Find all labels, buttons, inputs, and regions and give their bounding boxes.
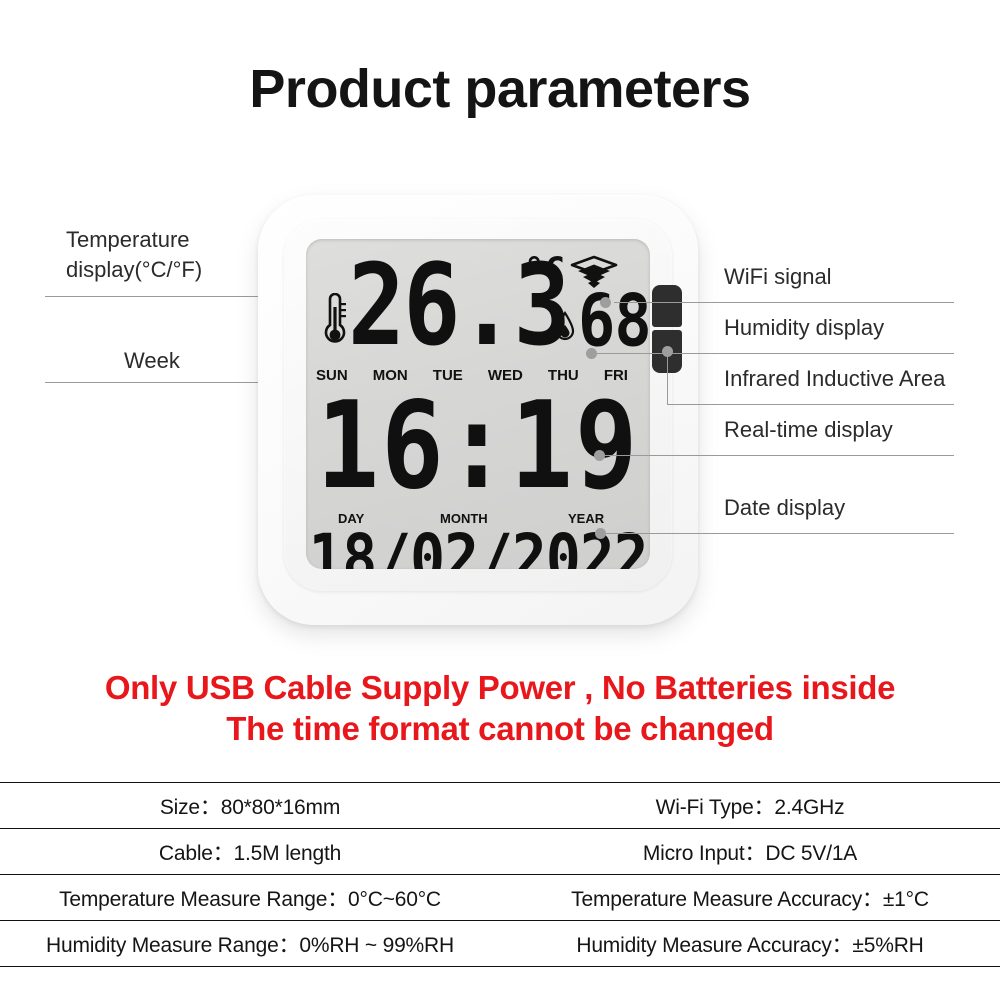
notice-line-1: Only USB Cable Supply Power , No Batteri…: [0, 668, 1000, 708]
leader-dot-humidity-display: [586, 348, 597, 359]
callout-temperature-display-line2: display(°C/°F): [66, 255, 202, 285]
callout-temperature-display: Temperature display(°C/°F): [66, 225, 202, 285]
leader-line-date-display: [605, 533, 954, 534]
callout-infrared-inductive-area: Infrared Inductive Area: [724, 366, 945, 392]
callout-temperature-display-line1: Temperature: [66, 225, 202, 255]
spec-humidity-range: Humidity Measure Range：0%RH ~ 99%RH: [0, 921, 500, 966]
infrared-module-upper: [652, 285, 682, 327]
device-body: 26.3 °C: [258, 195, 698, 625]
callout-humidity-display: Humidity display: [724, 315, 884, 341]
spec-temperature-range: Temperature Measure Range：0°C~60°C: [0, 875, 500, 920]
callout-real-time-display: Real-time display: [724, 417, 893, 443]
callout-week: Week: [124, 348, 180, 374]
lcd-time-value: 16:19: [316, 380, 639, 510]
leader-line-real-time-display: [604, 455, 954, 456]
table-row: Temperature Measure Range：0°C~60°C Tempe…: [0, 875, 1000, 921]
leader-line-infrared-inductive-area: [667, 404, 954, 405]
spec-temperature-accuracy: Temperature Measure Accuracy：±1°C: [500, 875, 1000, 920]
leader-dot-date-display: [595, 528, 606, 539]
lcd-top-row: 26.3 °C: [306, 247, 650, 363]
leader-dot-wifi-signal: [600, 297, 611, 308]
product-parameters-page: Product parameters Temperature display(°…: [0, 0, 1000, 1000]
lcd-temperature-unit: °C: [524, 253, 565, 287]
spec-humidity-accuracy: Humidity Measure Accuracy：±5%RH: [500, 921, 1000, 966]
callout-date-display: Date display: [724, 495, 845, 521]
leader-line-wifi-signal: [614, 302, 954, 303]
callout-wifi-signal: WiFi signal: [724, 264, 832, 290]
notice-line-2: The time format cannot be changed: [0, 708, 1000, 749]
power-notice: Only USB Cable Supply Power , No Batteri…: [0, 668, 1000, 749]
humidity-droplet-icon: [555, 311, 575, 341]
leader-dot-infrared-inductive-area: [662, 346, 673, 357]
thermometer-icon: [318, 293, 346, 349]
spec-size: Size：80*80*16mm: [0, 783, 500, 828]
table-row: Cable：1.5M length Micro Input：DC 5V/1A: [0, 829, 1000, 875]
spec-cable: Cable：1.5M length: [0, 829, 500, 874]
spec-wifi-type: Wi-Fi Type：2.4GHz: [500, 783, 1000, 828]
table-row: Humidity Measure Range：0%RH ~ 99%RH Humi…: [0, 921, 1000, 967]
page-title: Product parameters: [0, 58, 1000, 120]
leader-line-infrared-vertical: [667, 351, 668, 405]
lcd-time-row: 16:19: [306, 389, 650, 509]
spec-micro-input: Micro Input：DC 5V/1A: [500, 829, 1000, 874]
device-bezel: 26.3 °C: [284, 219, 672, 591]
leader-line-humidity-display: [597, 353, 954, 354]
product-diagram: Temperature display(°C/°F) Week: [0, 175, 1000, 665]
lcd-screen: 26.3 °C: [306, 239, 650, 569]
leader-dot-real-time-display: [594, 450, 605, 461]
specifications-table: Size：80*80*16mm Wi-Fi Type：2.4GHz Cable：…: [0, 782, 1000, 967]
table-row: Size：80*80*16mm Wi-Fi Type：2.4GHz: [0, 783, 1000, 829]
